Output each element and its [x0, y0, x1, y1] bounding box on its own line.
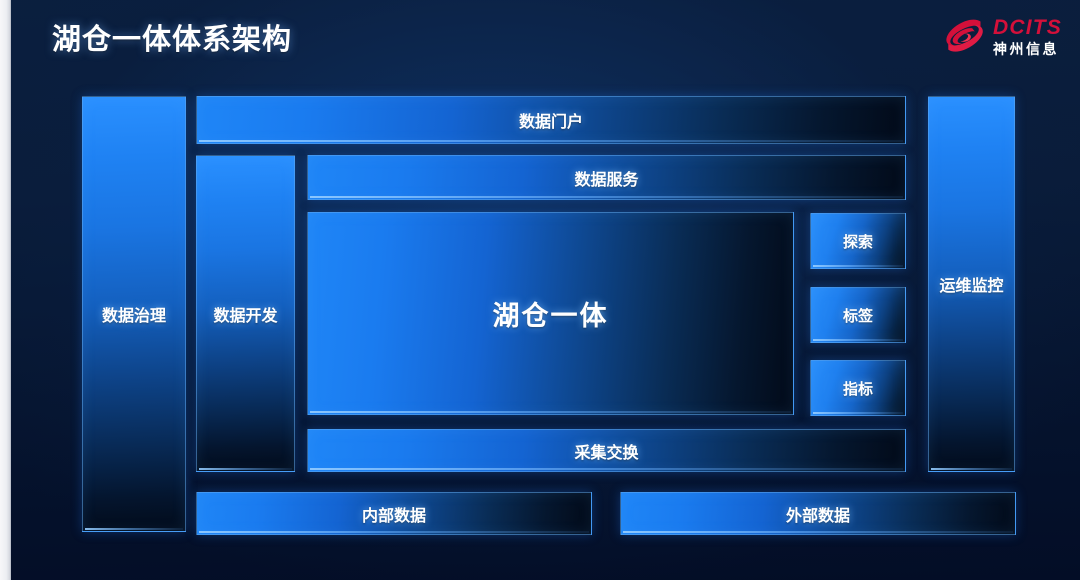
block-data-governance[interactable]: 数据治理: [82, 96, 186, 532]
block-ops-monitoring[interactable]: 运维监控: [928, 96, 1015, 472]
block-label-lakehouse-core: 湖仓一体: [493, 294, 609, 333]
block-label-collection-exchange: 采集交换: [574, 439, 638, 463]
block-label-metric: 指标: [843, 378, 873, 399]
logo-text-cn: 神州信息: [993, 42, 1062, 56]
block-data-service[interactable]: 数据服务: [307, 155, 906, 200]
block-lakehouse-core[interactable]: 湖仓一体: [307, 212, 794, 415]
block-external-data[interactable]: 外部数据: [620, 492, 1016, 535]
block-internal-data[interactable]: 内部数据: [196, 492, 592, 535]
block-label-data-service: 数据服务: [574, 166, 638, 190]
swirl-logo-icon: [942, 16, 986, 56]
logo-text-block: DCITS 神州信息: [993, 17, 1062, 56]
block-label-internal-data: 内部数据: [362, 502, 426, 526]
block-label-explore: 探索: [843, 231, 873, 252]
block-metric[interactable]: 指标: [810, 360, 906, 416]
block-label-ops-monitoring: 运维监控: [939, 272, 1003, 296]
block-label-tag: 标签: [843, 305, 873, 326]
block-label-data-development: 数据开发: [213, 302, 277, 326]
block-explore[interactable]: 探索: [810, 213, 906, 269]
block-data-development[interactable]: 数据开发: [196, 155, 295, 472]
left-edge-strip: [0, 0, 11, 580]
brand-logo: DCITS 神州信息: [942, 12, 1062, 60]
block-tag[interactable]: 标签: [810, 287, 906, 343]
block-label-data-governance: 数据治理: [102, 302, 166, 326]
block-data-portal[interactable]: 数据门户: [196, 96, 906, 144]
slide-canvas: 湖仓一体体系架构 DCITS 神州信息 数据治理 数据开发 数据门户 数据服务 …: [0, 0, 1080, 580]
page-title: 湖仓一体体系架构: [52, 16, 292, 58]
block-label-external-data: 外部数据: [786, 502, 850, 526]
block-collection-exchange[interactable]: 采集交换: [307, 429, 906, 472]
logo-text-en: DCITS: [993, 17, 1062, 38]
block-label-data-portal: 数据门户: [519, 108, 583, 132]
